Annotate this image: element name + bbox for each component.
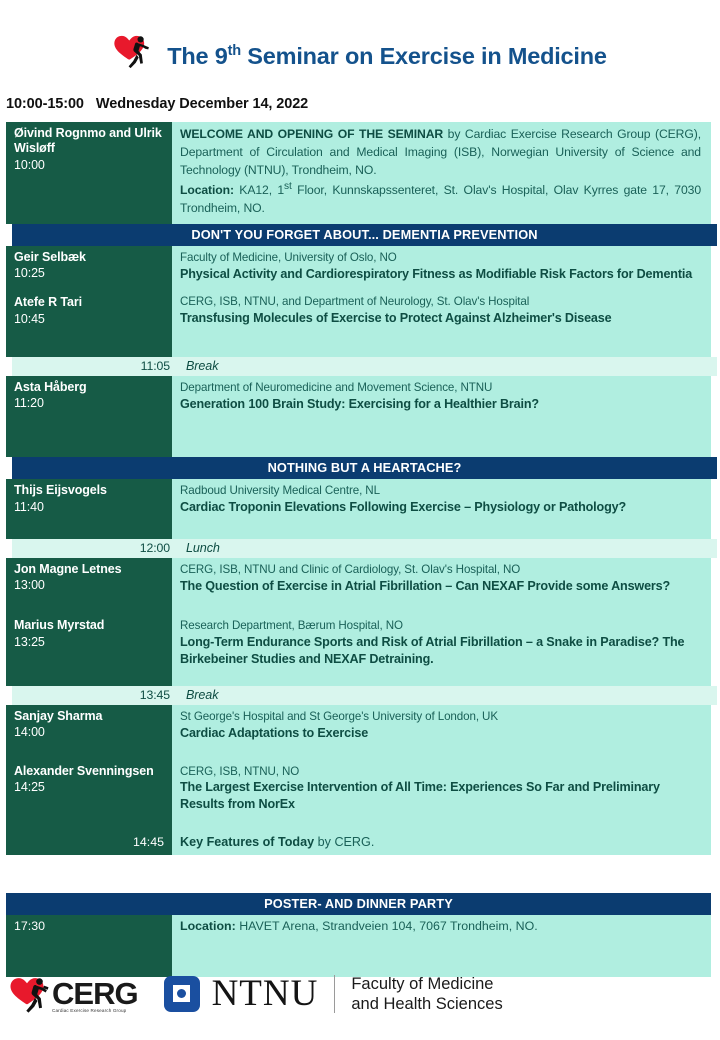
speaker-cell: Sanjay Sharma 14:00 — [6, 705, 172, 748]
cerg-logo: CERG Cardiac Exercise Research Group — [10, 975, 138, 1013]
talk-affiliation: CERG, ISB, NTNU and Clinic of Cardiology… — [180, 562, 701, 578]
ntnu-square-inner — [173, 985, 190, 1002]
key-features-title: Key Features of Today — [180, 835, 314, 849]
seminar-date: Wednesday December 14, 2022 — [96, 96, 308, 112]
speaker-time: 10:45 — [14, 311, 164, 327]
section-banner-poster: POSTER- AND DINNER PARTY — [6, 893, 711, 915]
session-cell: St George's Hospital and St George's Uni… — [172, 705, 711, 748]
key-features-text: Key Features of Today by CERG. — [172, 819, 711, 855]
speaker-cell: Marius Myrstad 13:25 — [6, 600, 172, 686]
ntnu-wordmark: NTNU — [212, 975, 319, 1012]
talk-title: Transfusing Molecules of Exercise to Pro… — [180, 310, 701, 327]
section-banner-heartache: NOTHING BUT A HEARTACHE? — [12, 457, 717, 479]
ntnu-square-icon — [164, 976, 200, 1012]
speaker-name: Geir Selbæk — [14, 250, 164, 265]
title-prefix: The 9 — [167, 43, 227, 69]
speaker-name: Atefe R Tari — [14, 295, 164, 310]
talk-affiliation: CERG, ISB, NTNU, and Department of Neuro… — [180, 294, 701, 310]
talk-affiliation: Faculty of Medicine, University of Oslo,… — [180, 250, 701, 266]
speaker-name: Marius Myrstad — [14, 618, 164, 633]
seminar-program-page: The 9th Seminar on Exercise in Medicine … — [0, 0, 720, 1040]
talk-block: CERG, ISB, NTNU, and Department of Neuro… — [180, 294, 701, 327]
session-cell: Department of Neuromedicine and Movement… — [172, 376, 711, 458]
break-label: Break — [178, 359, 218, 373]
seminar-time-range: 10:00-15:00 — [6, 96, 84, 112]
talk-affiliation: Research Department, Bærum Hospital, NO — [180, 618, 701, 634]
break-label: Break — [178, 688, 218, 702]
break-row: 11:05 Break — [12, 357, 717, 376]
program-row-myrstad: Marius Myrstad 13:25 Research Department… — [6, 600, 711, 686]
speaker-name: Thijs Eijsvogels — [14, 483, 164, 498]
lunch-label: Lunch — [178, 541, 220, 555]
cerg-heart-runner-icon — [10, 975, 58, 1013]
poster-location-value: HAVET Arena, Strandveien 104, 7067 Trond… — [236, 919, 538, 933]
talk-title: The Question of Exercise in Atrial Fibri… — [180, 578, 701, 595]
cerg-wordmark-stack: CERG Cardiac Exercise Research Group — [58, 981, 138, 1012]
cerg-tagline: Cardiac Exercise Research Group — [52, 1008, 138, 1013]
session-cell: Faculty of Medicine, University of Oslo,… — [172, 246, 711, 357]
faculty-line-1: Faculty of Medicine — [351, 974, 502, 994]
lunch-row: 12:00 Lunch — [12, 539, 717, 558]
speaker-cell: Asta Håberg 11:20 — [6, 376, 172, 458]
program-row-letnes: Jon Magne Letnes 13:00 CERG, ISB, NTNU a… — [6, 558, 711, 601]
key-features-suffix: by CERG. — [314, 835, 374, 849]
poster-time-cell: 17:30 — [6, 915, 172, 977]
poster-location-cell: Location: HAVET Arena, Strandveien 104, … — [172, 915, 711, 977]
program-row-eijsvogels: Thijs Eijsvogels 11:40 Radboud Universit… — [6, 479, 711, 539]
speaker-cell: Øivind Rognmo and Ulrik Wisløff 10:00 — [6, 122, 172, 224]
poster-time: 17:30 — [14, 919, 45, 933]
welcome-paragraph: WELCOME AND OPENING OF THE SEMINAR by Ca… — [180, 126, 701, 218]
program-table: Øivind Rognmo and Ulrik Wisløff 10:00 WE… — [6, 122, 711, 893]
faculty-line-2: and Health Sciences — [351, 994, 502, 1014]
title-rest: Seminar on Exercise in Medicine — [241, 43, 607, 69]
speaker-time: 14:00 — [14, 724, 164, 740]
speaker-time: 10:00 — [14, 157, 164, 173]
talk-block: Faculty of Medicine, University of Oslo,… — [180, 250, 701, 283]
session-cell: CERG, ISB, NTNU and Clinic of Cardiology… — [172, 558, 711, 601]
key-features-time: 14:45 — [6, 819, 172, 855]
location-value-first: KA12, 1 — [234, 183, 284, 197]
speaker-time: 14:25 — [14, 779, 164, 795]
talk-affiliation: Radboud University Medical Centre, NL — [180, 483, 701, 499]
program-row-key-features: 14:45 Key Features of Today by CERG. — [6, 819, 711, 855]
break-row: 13:45 Break — [12, 686, 717, 705]
logo-divider — [334, 975, 335, 1013]
session-cell: WELCOME AND OPENING OF THE SEMINAR by Ca… — [172, 122, 711, 224]
speaker-name: Øivind Rognmo and Ulrik Wisløff — [14, 126, 164, 157]
program-row-dementia: Geir Selbæk 10:25 Atefe R Tari 10:45 Fac… — [6, 246, 711, 357]
location-label: Location: — [180, 183, 234, 197]
program-row-sharma: Sanjay Sharma 14:00 St George's Hospital… — [6, 705, 711, 748]
section-banner-dementia: DON'T YOU FORGET ABOUT... DEMENTIA PREVE… — [12, 224, 717, 246]
speaker-time: 11:20 — [14, 395, 164, 411]
ntnu-logo: NTNU Faculty of Medicine and Health Scie… — [164, 974, 503, 1014]
talk-affiliation: CERG, ISB, NTNU, NO — [180, 764, 701, 780]
speaker-name: Jon Magne Letnes — [14, 562, 164, 577]
speaker-block: Atefe R Tari 10:45 — [14, 295, 164, 327]
poster-location-label: Location: — [180, 919, 236, 933]
footer-logos: CERG Cardiac Exercise Research Group NTN… — [10, 974, 503, 1014]
talk-title: Cardiac Troponin Elevations Following Ex… — [180, 499, 701, 516]
session-cell: Research Department, Bærum Hospital, NO … — [172, 600, 711, 686]
speaker-cell: Jon Magne Letnes 13:00 — [6, 558, 172, 601]
speaker-cell: Thijs Eijsvogels 11:40 — [6, 479, 172, 539]
program-row-svenningsen: Alexander Svenningsen 14:25 CERG, ISB, N… — [6, 748, 711, 820]
page-header: The 9th Seminar on Exercise in Medicine — [0, 0, 720, 82]
key-features-time-value: 14:45 — [133, 835, 164, 849]
session-cell: CERG, ISB, NTNU, NO The Largest Exercise… — [172, 748, 711, 820]
talk-title: Physical Activity and Cardiorespiratory … — [180, 266, 701, 283]
speaker-block: Geir Selbæk 10:25 — [14, 250, 164, 282]
program-row-poster: 17:30 Location: HAVET Arena, Strandveien… — [6, 915, 711, 977]
welcome-title: WELCOME AND OPENING OF THE SEMINAR — [180, 127, 443, 141]
speaker-time: 10:25 — [14, 265, 164, 281]
break-time: 13:45 — [12, 688, 178, 702]
program-row-welcome: Øivind Rognmo and Ulrik Wisløff 10:00 WE… — [6, 122, 711, 224]
speaker-cell: Geir Selbæk 10:25 Atefe R Tari 10:45 — [6, 246, 172, 357]
speaker-time: 13:25 — [14, 634, 164, 650]
talk-title: Generation 100 Brain Study: Exercising f… — [180, 396, 701, 413]
section-spacer — [6, 855, 711, 893]
talk-affiliation: St George's Hospital and St George's Uni… — [180, 709, 701, 725]
talk-title: Cardiac Adaptations to Exercise — [180, 725, 701, 742]
speaker-name: Asta Håberg — [14, 380, 164, 395]
lunch-time: 12:00 — [12, 541, 178, 555]
talk-affiliation: Department of Neuromedicine and Movement… — [180, 380, 701, 396]
title-ordinal-suffix: th — [228, 43, 241, 59]
speaker-time: 13:00 — [14, 577, 164, 593]
page-title: The 9th Seminar on Exercise in Medicine — [167, 43, 607, 70]
talk-title: The Largest Exercise Intervention of All… — [180, 779, 701, 813]
cerg-wordmark: CERG — [52, 981, 138, 1006]
location-ordinal-suffix: st — [284, 181, 292, 192]
speaker-name: Sanjay Sharma — [14, 709, 164, 724]
program-row-haberg: Asta Håberg 11:20 Department of Neuromed… — [6, 376, 711, 458]
seminar-datetime: 10:00-15:00Wednesday December 14, 2022 — [6, 96, 720, 112]
speaker-name: Alexander Svenningsen — [14, 764, 164, 779]
faculty-name: Faculty of Medicine and Health Sciences — [351, 974, 502, 1014]
break-time: 11:05 — [12, 359, 178, 373]
heart-runner-icon — [113, 32, 157, 72]
talk-title: Long-Term Endurance Sports and Risk of A… — [180, 634, 701, 668]
speaker-time: 11:40 — [14, 499, 164, 515]
speaker-cell: Alexander Svenningsen 14:25 — [6, 748, 172, 820]
session-cell: Radboud University Medical Centre, NL Ca… — [172, 479, 711, 539]
ntnu-square-dot — [177, 989, 186, 998]
